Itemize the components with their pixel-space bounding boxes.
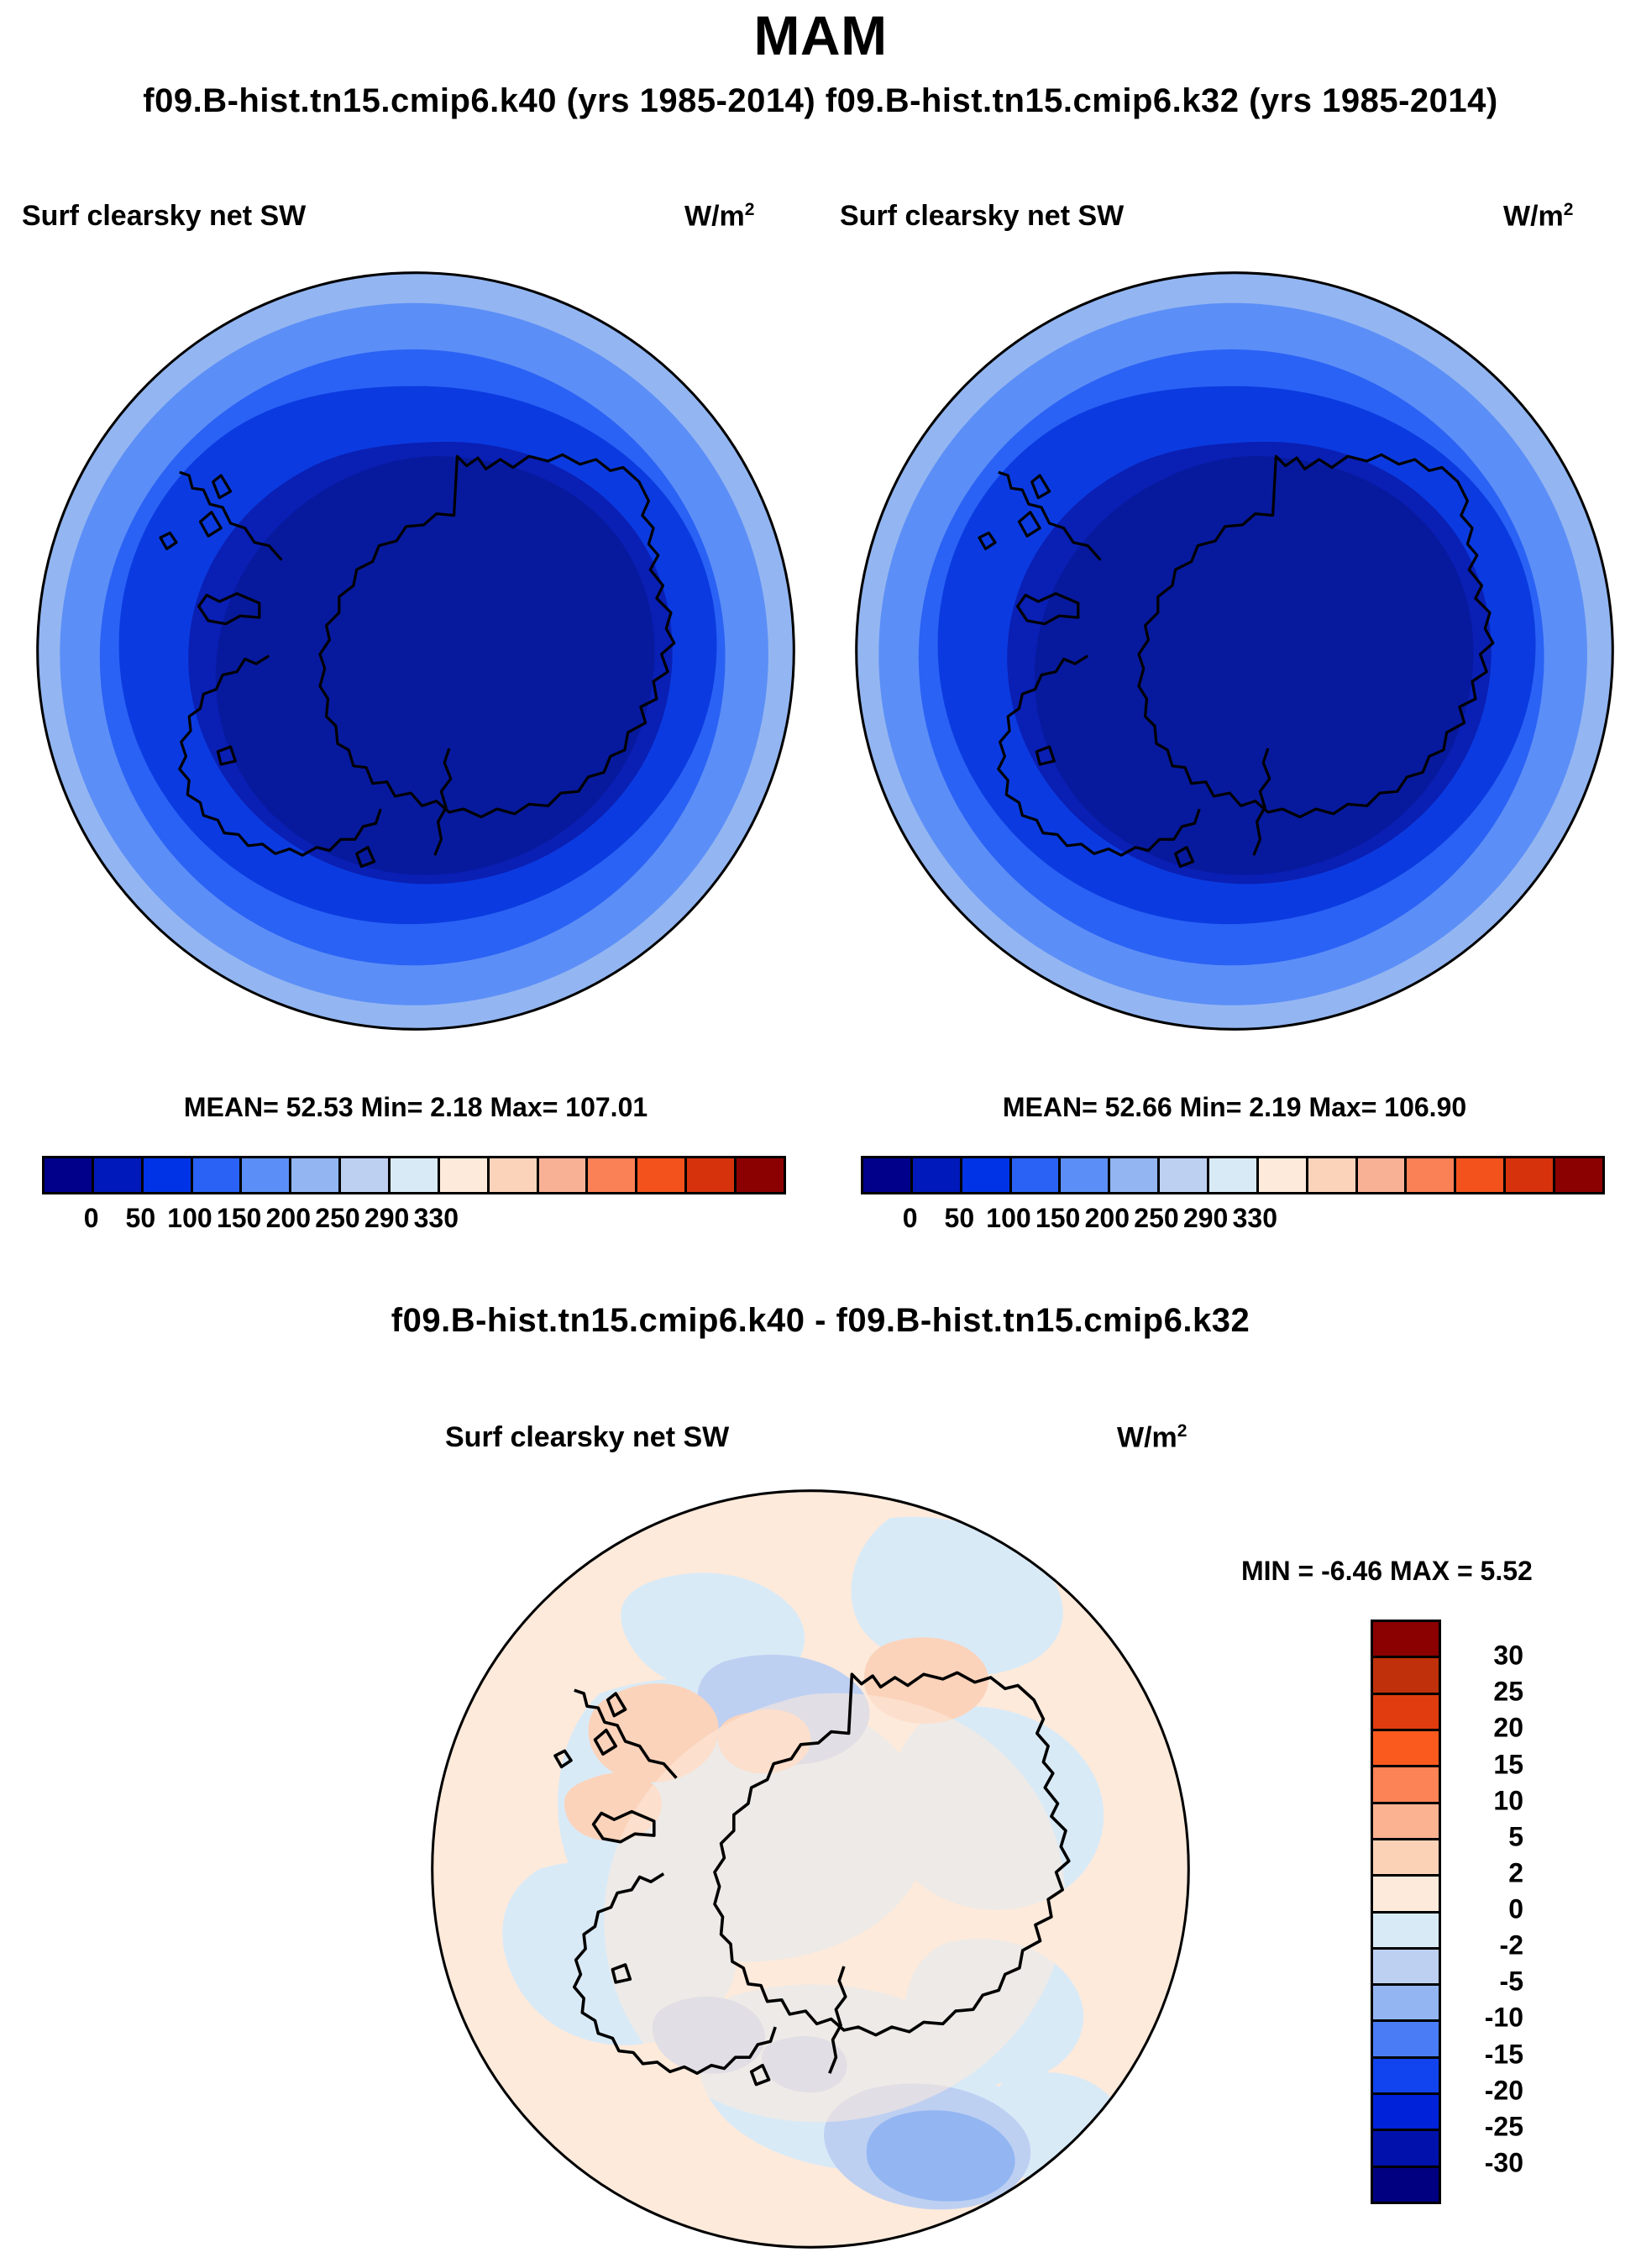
diff-colorbar-tick-2: 2: [1448, 1857, 1523, 1888]
case-subtitle: f09.B-hist.tn15.cmip6.k40 (yrs 1985-2014…: [0, 82, 1641, 120]
colorbar-cell-13: [1506, 1158, 1555, 1192]
colorbar-cell-11: [1407, 1158, 1456, 1192]
diff-colorbar-cell-9: [1373, 1950, 1439, 1986]
diff-colorbar-tick-neg5: -5: [1448, 1966, 1523, 1998]
diff-panel-units: W/m2: [1117, 1421, 1187, 1454]
colorbar-cell-6: [1160, 1158, 1209, 1192]
colorbar-tick-150: 150: [1035, 1203, 1080, 1234]
left-units-exponent: 2: [745, 200, 755, 219]
diff-colorbar-cell-14: [1373, 2131, 1439, 2167]
colorbar-cell-11: [588, 1158, 637, 1192]
diff-colorbar-tick-20: 20: [1448, 1713, 1523, 1744]
right-panel-units: W/m2: [1503, 200, 1573, 233]
left-panel-units: W/m2: [684, 200, 754, 233]
colorbar-cell-3: [193, 1158, 243, 1192]
diff-colorbar-tick-neg15: -15: [1448, 2039, 1523, 2070]
diff-colorbar-tick-30: 30: [1448, 1641, 1523, 1672]
colorbar-right-tick-labels: 050100150200250290330: [861, 1203, 1605, 1240]
colorbar-tick-330: 330: [414, 1203, 459, 1234]
colorbar-cell-1: [94, 1158, 144, 1192]
colorbar-cell-10: [1358, 1158, 1408, 1192]
colorbar-tick-250: 250: [315, 1203, 359, 1234]
left-panel-variable-label: Surf clearsky net SW: [22, 200, 306, 233]
colorbar-tick-330: 330: [1233, 1203, 1277, 1234]
colorbar-horizontal-left[interactable]: [42, 1156, 786, 1194]
diff-colorbar-cell-10: [1373, 1986, 1439, 2022]
colorbar-vertical-difference[interactable]: [1371, 1620, 1441, 2204]
diff-colorbar-cell-0: [1373, 1622, 1439, 1658]
colorbar-cell-0: [45, 1158, 94, 1192]
diff-colorbar-cell-13: [1373, 2095, 1439, 2131]
colorbar-tick-100: 100: [986, 1203, 1030, 1234]
diff-units-text: W/m: [1117, 1421, 1177, 1453]
left-units-text: W/m: [684, 200, 745, 232]
colorbar-cell-10: [539, 1158, 589, 1192]
right-units-exponent: 2: [1564, 200, 1574, 219]
colorbar-cell-13: [687, 1158, 737, 1192]
diff-colorbar-tick-neg10: -10: [1448, 2003, 1523, 2034]
right-panel-variable-label: Surf clearsky net SW: [840, 200, 1124, 233]
colorbar-cell-7: [1209, 1158, 1259, 1192]
colorbar-cell-4: [242, 1158, 291, 1192]
colorbar-difference-tick-labels: 3025201510520-2-5-10-15-20-25-30: [1448, 1620, 1565, 2199]
colorbar-cell-5: [1110, 1158, 1160, 1192]
diff-colorbar-tick-10: 10: [1448, 1785, 1523, 1816]
colorbar-tick-50: 50: [945, 1203, 975, 1234]
colorbar-left-tick-labels: 050100150200250290330: [42, 1203, 786, 1240]
diff-colorbar-tick-neg2: -2: [1448, 1930, 1523, 1961]
page-title: MAM: [0, 3, 1641, 67]
diff-colorbar-cell-4: [1373, 1767, 1439, 1803]
colorbar-tick-290: 290: [364, 1203, 409, 1234]
diff-colorbar-cell-8: [1373, 1914, 1439, 1950]
diff-colorbar-cell-11: [1373, 2022, 1439, 2058]
diff-colorbar-tick-neg25: -25: [1448, 2111, 1523, 2142]
colorbar-cell-6: [341, 1158, 391, 1192]
diff-units-exponent: 2: [1177, 1421, 1187, 1441]
diff-colorbar-tick-0: 0: [1448, 1894, 1523, 1925]
colorbar-horizontal-right[interactable]: [861, 1156, 1605, 1194]
colorbar-cell-8: [440, 1158, 490, 1192]
diff-colorbar-cell-12: [1373, 2059, 1439, 2095]
diff-colorbar-cell-6: [1373, 1840, 1439, 1877]
colorbar-cell-2: [144, 1158, 193, 1192]
colorbar-cell-14: [1555, 1158, 1602, 1192]
polar-map-left-svg: [17, 252, 815, 1050]
colorbar-cell-3: [1012, 1158, 1062, 1192]
diff-panel-variable-label: Surf clearsky net SW: [445, 1421, 729, 1454]
diff-colorbar-tick-15: 15: [1448, 1749, 1523, 1780]
colorbar-cell-1: [913, 1158, 962, 1192]
colorbar-tick-100: 100: [167, 1203, 212, 1234]
diff-colorbar-tick-5: 5: [1448, 1821, 1523, 1852]
colorbar-cell-2: [962, 1158, 1012, 1192]
diff-colorbar-tick-25: 25: [1448, 1677, 1523, 1708]
polar-map-difference[interactable]: [412, 1470, 1209, 2268]
diff-colorbar-cell-15: [1373, 2168, 1439, 2202]
polar-map-difference-svg: [412, 1470, 1209, 2268]
colorbar-cell-14: [737, 1158, 784, 1192]
right-panel-stats: MEAN= 52.66 Min= 2.19 Max= 106.90: [836, 1092, 1633, 1123]
colorbar-cell-8: [1259, 1158, 1308, 1192]
polar-map-left[interactable]: [17, 252, 815, 1050]
colorbar-cell-5: [291, 1158, 341, 1192]
colorbar-tick-290: 290: [1183, 1203, 1228, 1234]
colorbar-tick-200: 200: [266, 1203, 311, 1234]
colorbar-cell-9: [490, 1158, 539, 1192]
left-panel-stats: MEAN= 52.53 Min= 2.18 Max= 107.01: [17, 1092, 815, 1123]
diff-colorbar-cell-3: [1373, 1731, 1439, 1767]
right-units-text: W/m: [1503, 200, 1564, 232]
colorbar-tick-250: 250: [1134, 1203, 1178, 1234]
colorbar-cell-4: [1061, 1158, 1110, 1192]
colorbar-tick-0: 0: [903, 1203, 918, 1234]
colorbar-cell-0: [863, 1158, 913, 1192]
diff-minmax-label: MIN = -6.46 MAX = 5.52: [1241, 1556, 1533, 1587]
diff-colorbar-tick-neg30: -30: [1448, 2147, 1523, 2178]
diff-colorbar-cell-1: [1373, 1658, 1439, 1694]
colorbar-tick-200: 200: [1085, 1203, 1130, 1234]
colorbar-tick-50: 50: [126, 1203, 156, 1234]
polar-map-right[interactable]: [836, 252, 1633, 1050]
colorbar-cell-7: [391, 1158, 440, 1192]
colorbar-tick-150: 150: [217, 1203, 261, 1234]
difference-title: f09.B-hist.tn15.cmip6.k40 - f09.B-hist.t…: [0, 1302, 1641, 1340]
diff-colorbar-cell-5: [1373, 1804, 1439, 1840]
polar-map-right-svg: [836, 252, 1633, 1050]
colorbar-tick-0: 0: [84, 1203, 99, 1234]
colorbar-cell-12: [1456, 1158, 1506, 1192]
diff-colorbar-cell-2: [1373, 1695, 1439, 1731]
diff-colorbar-tick-neg20: -20: [1448, 2075, 1523, 2106]
colorbar-cell-12: [637, 1158, 687, 1192]
colorbar-cell-9: [1308, 1158, 1358, 1192]
diff-colorbar-cell-7: [1373, 1877, 1439, 1913]
